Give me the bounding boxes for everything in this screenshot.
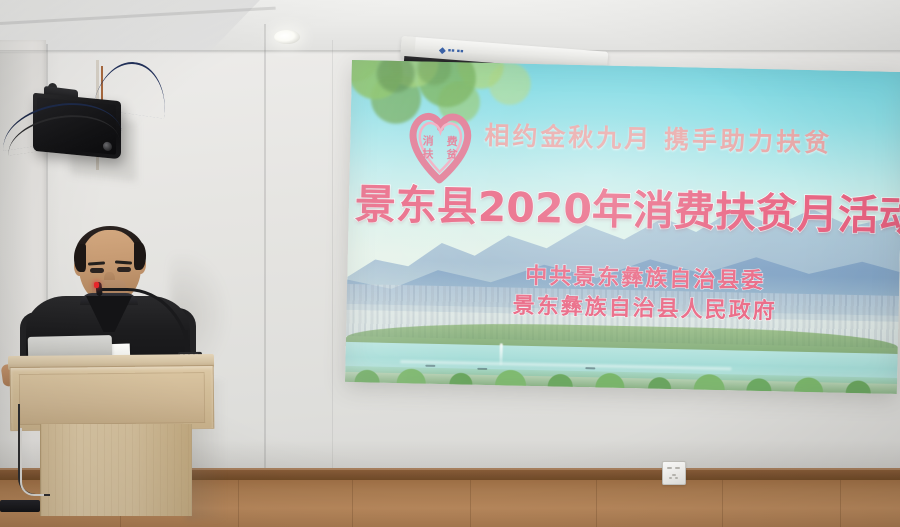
speaker-brand-badge — [103, 142, 112, 152]
heart-char-3: 贫 — [441, 149, 463, 161]
hair-side-right — [134, 242, 146, 270]
wall-seam-center — [264, 24, 266, 494]
brand-mark-icon — [439, 47, 447, 55]
housing-brand-logo: ■■ ■■ — [439, 47, 464, 56]
wall-seam-right — [332, 40, 333, 495]
boat — [585, 367, 595, 369]
microphone-status-led — [94, 282, 99, 288]
ceiling-downlight — [274, 30, 300, 44]
eye-left — [90, 268, 104, 273]
lake-fountain — [499, 343, 502, 365]
slide-organizations: 中共景东彝族自治县委 景东彝族自治县人民政府 — [494, 261, 795, 328]
floor-equipment-box — [0, 500, 40, 512]
podium-cable-white — [20, 428, 44, 496]
heart-char-2: 扶 — [417, 148, 439, 160]
podium-column — [40, 424, 192, 516]
conference-room-scene: ■■ ■■ 消 费 扶 贫 — [0, 0, 900, 527]
podium-wood-grain — [41, 424, 191, 516]
poverty-alleviation-heart-icon: 消 费 扶 贫 — [405, 109, 475, 184]
projection-screen: 消 费 扶 贫 相约金秋九月 携手助力扶贫 景东县2020年消费扶贫月活动启动仪… — [345, 60, 900, 394]
heart-logo-characters: 消 费 扶 贫 — [417, 135, 464, 161]
heart-char-1: 费 — [441, 136, 463, 148]
heart-char-0: 消 — [417, 135, 439, 147]
eye-right — [117, 267, 131, 272]
boat — [425, 365, 435, 367]
housing-logo-text: ■■ ■■ — [448, 49, 464, 55]
hair-side-left — [74, 244, 86, 272]
wall-socket[interactable] — [662, 461, 686, 485]
